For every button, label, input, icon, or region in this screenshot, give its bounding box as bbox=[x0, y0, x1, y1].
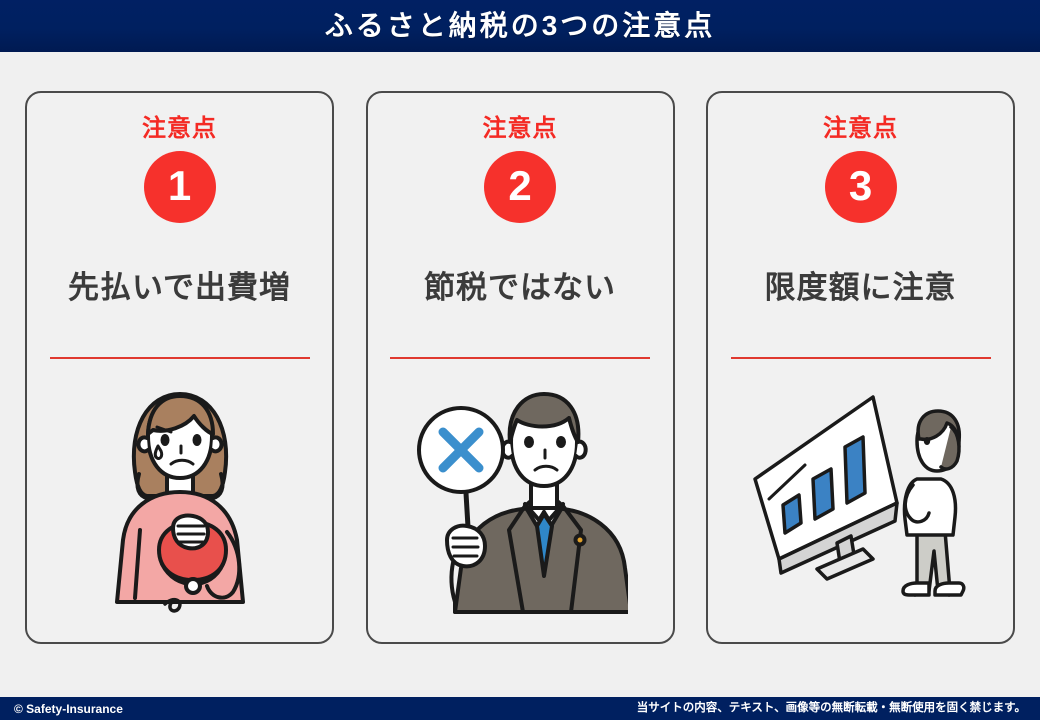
page-header: ふるさと納税の3つの注意点 bbox=[0, 0, 1040, 52]
card-1-number-badge: 1 bbox=[144, 151, 216, 223]
card-1-kicker: 注意点 bbox=[142, 117, 217, 141]
card-3-kicker: 注意点 bbox=[823, 117, 898, 141]
card-1-illustration-wrap bbox=[27, 359, 332, 642]
businessman-holding-x-sign-icon bbox=[413, 380, 628, 615]
card-1[interactable]: 注意点 1 先払いで出費増 bbox=[25, 91, 334, 644]
card-3-number-badge: 3 bbox=[825, 151, 897, 223]
card-3-illustration-wrap bbox=[708, 359, 1013, 642]
card-2-title: 節税ではない bbox=[424, 271, 616, 305]
copyright-text: © Safety-Insurance bbox=[14, 703, 123, 715]
card-2-number: 2 bbox=[508, 165, 531, 207]
card-2-number-badge: 2 bbox=[484, 151, 556, 223]
card-3-number: 3 bbox=[849, 165, 872, 207]
card-3-title: 限度額に注意 bbox=[765, 271, 957, 305]
worried-woman-with-coin-purse-icon bbox=[95, 380, 265, 615]
page-footer: © Safety-Insurance 当サイトの内容、テキスト、画像等の無断転載… bbox=[0, 697, 1040, 720]
card-2-kicker: 注意点 bbox=[483, 117, 558, 141]
card-1-title: 先払いで出費増 bbox=[68, 271, 291, 305]
card-3[interactable]: 注意点 3 限度額に注意 bbox=[706, 91, 1015, 644]
cards-container: 注意点 1 先払いで出費増 bbox=[25, 91, 1015, 644]
card-2-illustration-wrap bbox=[368, 359, 673, 642]
person-viewing-bar-chart-monitor-icon bbox=[745, 383, 977, 613]
card-1-number: 1 bbox=[168, 165, 191, 207]
card-2[interactable]: 注意点 2 節税ではない bbox=[366, 91, 675, 644]
usage-restriction-text: 当サイトの内容、テキスト、画像等の無断転載・無断使用を固く禁じます。 bbox=[637, 703, 1026, 715]
page-title: ふるさと納税の3つの注意点 bbox=[325, 12, 716, 40]
